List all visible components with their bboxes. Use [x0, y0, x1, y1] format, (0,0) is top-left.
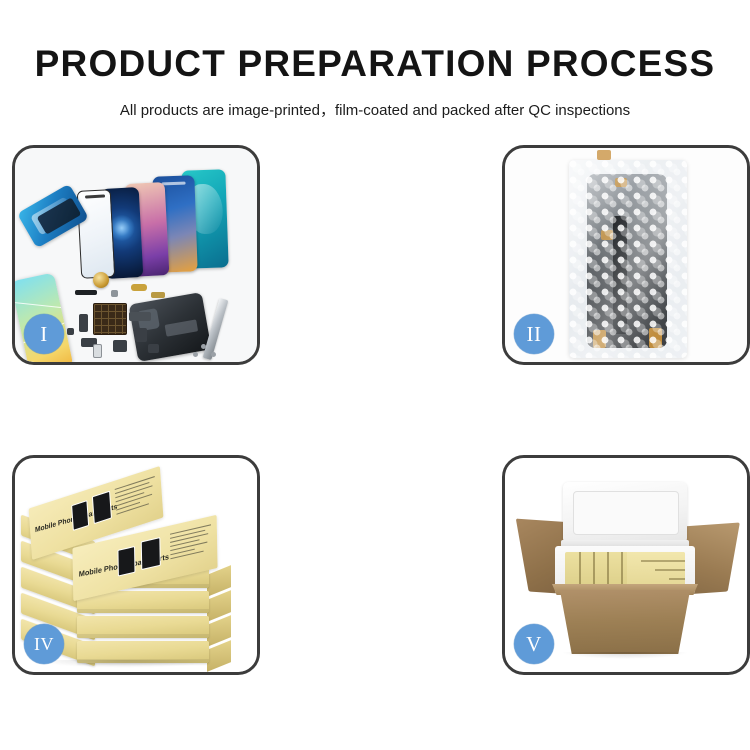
small-part-icon — [79, 314, 88, 332]
header: PRODUCT PREPARATION PROCESS All products… — [0, 0, 750, 118]
small-part-icon — [129, 312, 151, 321]
stacked-box — [77, 616, 209, 638]
chip-grid-icon — [93, 303, 127, 335]
gold-connector-icon — [131, 284, 147, 291]
drop-shadow — [35, 660, 213, 668]
label-spec-lines — [170, 524, 212, 568]
phone-thumbnail-icon — [92, 491, 112, 525]
small-part-icon — [67, 328, 74, 335]
page-title: PRODUCT PREPARATION PROCESS — [0, 45, 750, 82]
foam-box-lid — [563, 482, 687, 544]
gold-coil-icon — [93, 272, 109, 288]
gold-ribbon-icon — [151, 292, 165, 298]
small-part-icon — [111, 290, 118, 297]
step-badge-1: I — [24, 314, 64, 354]
product-preparation-process-page: PRODUCT PREPARATION PROCESS All products… — [0, 0, 750, 750]
process-step-grid: I II — [12, 145, 740, 675]
screw-icon — [201, 344, 206, 349]
small-part-icon — [135, 328, 147, 342]
drop-shadow — [561, 652, 689, 659]
process-step-panel-5: V — [502, 455, 750, 675]
tempered-glass-screen-icon — [77, 189, 116, 279]
process-step-panel-4: Mobile Phone Spare Parts — [12, 455, 260, 675]
small-part-icon — [148, 344, 159, 353]
sim-tray-icon — [93, 344, 102, 358]
label-spec-lines — [115, 476, 157, 524]
screw-icon — [193, 352, 198, 357]
small-part-icon — [113, 340, 127, 352]
plastic-sheen-layer — [569, 160, 687, 358]
step-badge-2: II — [514, 314, 554, 354]
phone-thumbnail-icon — [117, 546, 135, 577]
phone-thumbnail-icon — [71, 500, 89, 531]
step-badge-4: IV — [24, 624, 64, 664]
screw-icon — [211, 352, 216, 357]
phone-thumbnail-icon — [141, 537, 161, 570]
carton-front-panel — [551, 590, 699, 654]
retail-boxes-rotated-group — [627, 552, 685, 588]
process-step-panel-2: II — [502, 145, 750, 365]
retail-boxes-inside-foam — [565, 552, 685, 588]
process-step-panel-1: I — [12, 145, 260, 365]
step-badge-5: V — [514, 624, 554, 664]
bubble-wrap-bag — [569, 160, 687, 358]
bag-seal-tab-icon — [597, 150, 611, 160]
page-subtitle: All products are image-printed，film-coat… — [0, 103, 750, 118]
flex-cable-icon — [75, 290, 97, 295]
